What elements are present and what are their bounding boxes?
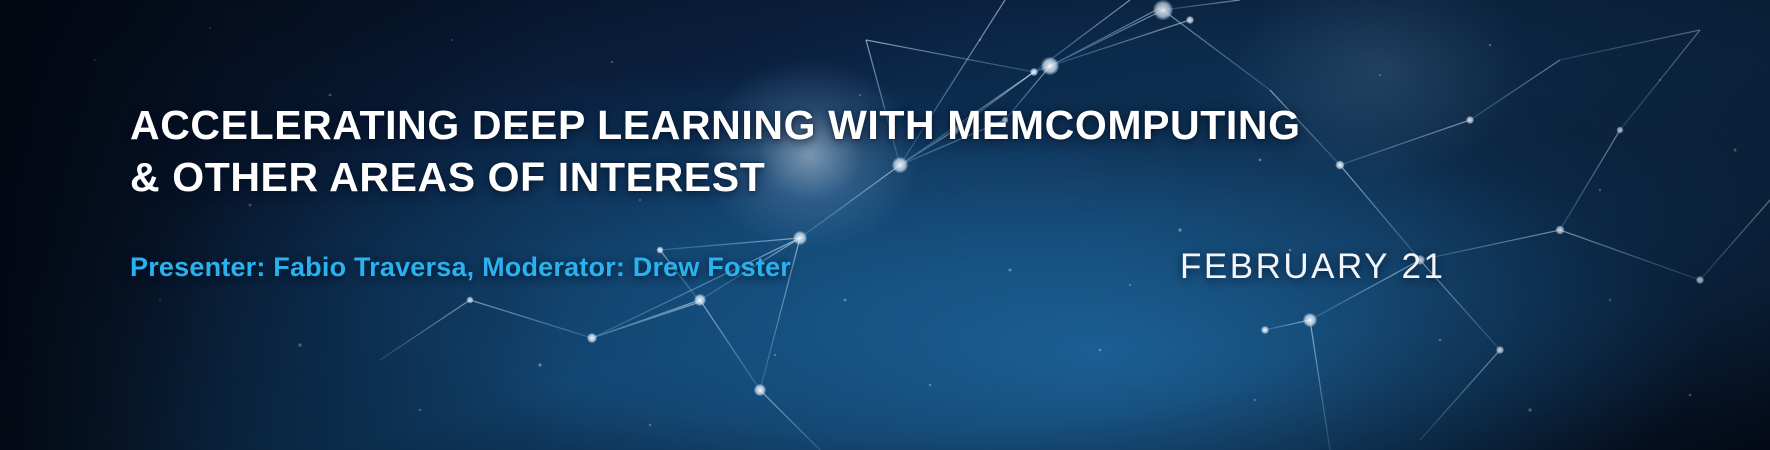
presenter-moderator-line: Presenter: Fabio Traversa, Moderator: Dr…	[130, 252, 791, 283]
banner-title: ACCELERATING DEEP LEARNING WITH MEMCOMPU…	[130, 99, 1470, 203]
event-date: FEBRUARY 21	[1180, 247, 1445, 287]
banner-title-line-2: & OTHER AREAS OF INTEREST	[130, 151, 1470, 203]
webinar-banner: ACCELERATING DEEP LEARNING WITH MEMCOMPU…	[0, 0, 1770, 450]
banner-title-line-1: ACCELERATING DEEP LEARNING WITH MEMCOMPU…	[130, 102, 1301, 148]
